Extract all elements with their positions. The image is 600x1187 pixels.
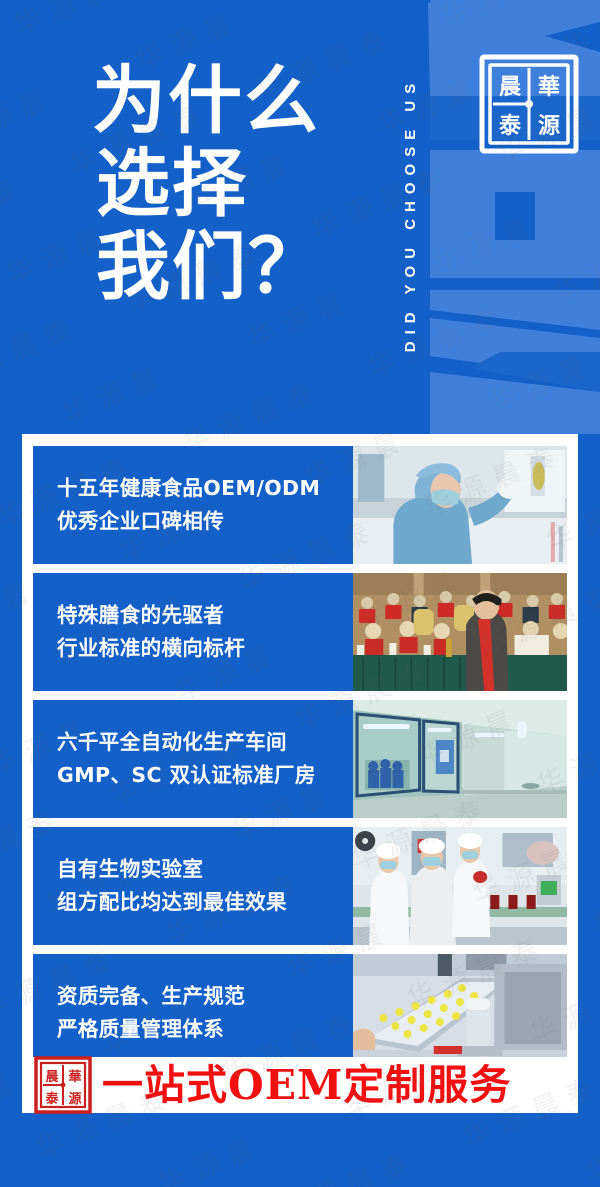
blister-packaging-photo <box>353 954 567 1072</box>
feature-text-block: 六千平全自动化生产车间 GMP、SC 双认证标准厂房 <box>33 700 353 818</box>
lab-technician-illustration <box>353 446 567 564</box>
svg-text:源: 源 <box>68 1091 81 1107</box>
conference-audience-illustration <box>353 573 567 691</box>
feature-line-2: 行业标准的横向标杆 <box>57 632 353 665</box>
feature-line-2: GMP、SC 双认证标准厂房 <box>57 759 353 792</box>
production-line-illustration <box>353 827 567 945</box>
feature-line-1: 六千平全自动化生产车间 <box>57 726 353 759</box>
headline-line-2: 选择 <box>92 143 392 226</box>
lab-technician-photo <box>353 446 567 564</box>
features-list: 十五年健康食品OEM/ODM 优秀企业口碑相传 <box>33 446 567 1072</box>
headline-line-3: 我们？ <box>92 226 392 309</box>
svg-text:泰: 泰 <box>498 114 522 139</box>
footer-slogan-bar: 晨 華 泰 源 一站式OEM定制服务 <box>22 1057 578 1113</box>
poster-root: 为什么 选择 我们？ DID YOU CHOOSE US 晨 華 泰 源 <box>0 0 600 1187</box>
page-title: 为什么 选择 我们？ <box>92 60 392 309</box>
feature-line-1: 十五年健康食品OEM/ODM <box>57 472 353 505</box>
seal-logo-white-icon: 晨 華 泰 源 <box>477 52 581 156</box>
vertical-caption: DID YOU CHOOSE US <box>400 14 422 414</box>
blister-packaging-illustration <box>353 954 567 1072</box>
svg-text:源: 源 <box>538 114 560 139</box>
svg-text:華: 華 <box>68 1069 81 1085</box>
feature-text-block: 自有生物实验室 组方配比均达到最佳效果 <box>33 827 353 945</box>
cleanroom-corridor-photo <box>353 700 567 818</box>
feature-row: 资质完备、生产规范 严格质量管理体系 <box>33 954 567 1072</box>
feature-line-1: 资质完备、生产规范 <box>57 980 353 1013</box>
headline-line-1: 为什么 <box>92 60 392 143</box>
footer-slogan-text: 一站式OEM定制服务 <box>102 1065 511 1106</box>
svg-text:晨: 晨 <box>499 75 522 100</box>
seal-white-svg: 晨 華 泰 源 <box>477 52 581 156</box>
feature-line-2: 组方配比均达到最佳效果 <box>57 886 353 919</box>
feature-line-1: 自有生物实验室 <box>57 853 353 886</box>
seal-red-svg: 晨 華 泰 源 <box>34 1056 92 1114</box>
svg-text:泰: 泰 <box>44 1091 59 1107</box>
features-panel: 十五年健康食品OEM/ODM 优秀企业口碑相传 <box>22 434 578 1113</box>
cleanroom-corridor-illustration <box>353 700 567 818</box>
feature-line-1: 特殊膳食的先驱者 <box>57 599 353 632</box>
svg-text:華: 華 <box>538 75 560 100</box>
feature-text-block: 十五年健康食品OEM/ODM 优秀企业口碑相传 <box>33 446 353 564</box>
feature-row: 自有生物实验室 组方配比均达到最佳效果 <box>33 827 567 945</box>
feature-text-block: 资质完备、生产规范 严格质量管理体系 <box>33 954 353 1072</box>
production-line-staff-photo <box>353 827 567 945</box>
feature-line-2: 优秀企业口碑相传 <box>57 505 353 538</box>
feature-text-block: 特殊膳食的先驱者 行业标准的横向标杆 <box>33 573 353 691</box>
feature-line-2: 严格质量管理体系 <box>57 1013 353 1046</box>
feature-row: 特殊膳食的先驱者 行业标准的横向标杆 <box>33 573 567 691</box>
vertical-caption-text: DID YOU CHOOSE US <box>403 76 420 351</box>
svg-text:晨: 晨 <box>45 1070 59 1085</box>
conference-audience-photo <box>353 573 567 691</box>
seal-logo-red-icon: 晨 華 泰 源 <box>34 1056 92 1114</box>
feature-row: 十五年健康食品OEM/ODM 优秀企业口碑相传 <box>33 446 567 564</box>
feature-row: 六千平全自动化生产车间 GMP、SC 双认证标准厂房 <box>33 700 567 818</box>
